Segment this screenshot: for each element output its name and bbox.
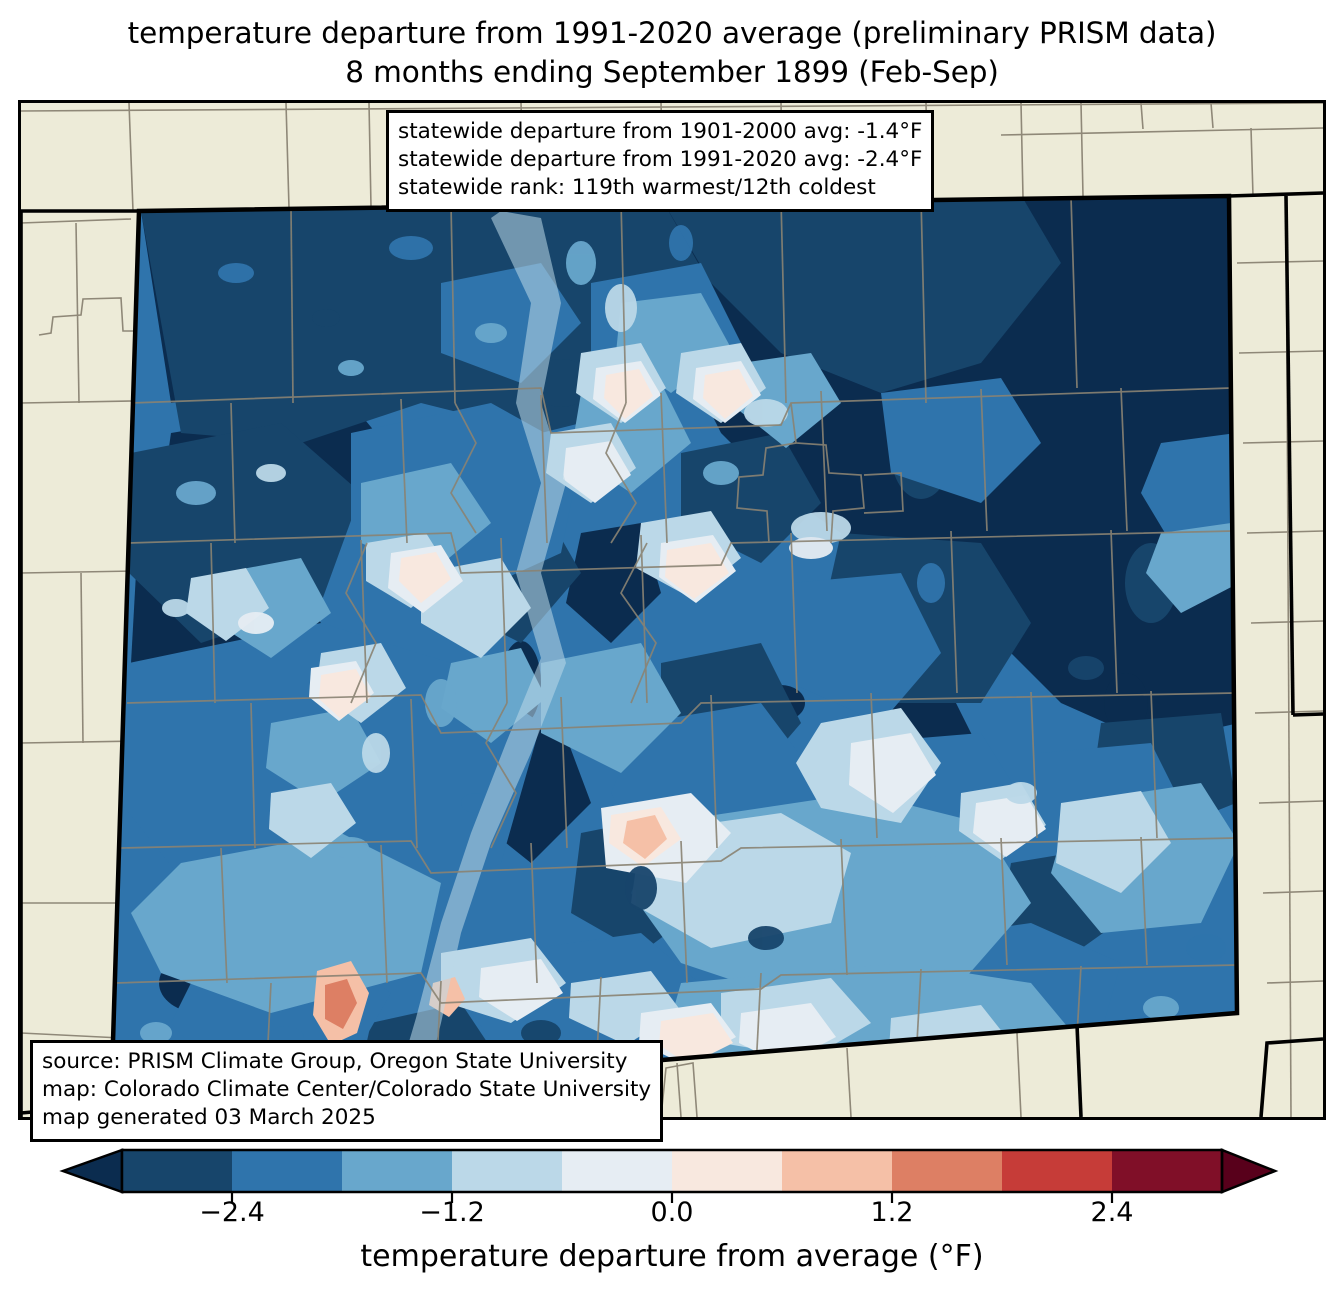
colorbar-axis-label: temperature departure from average (°F) <box>0 1239 1344 1274</box>
source-credit-box: source: PRISM Climate Group, Oregon Stat… <box>30 1040 663 1142</box>
colorado-temperature-departure-map <box>21 103 1323 1117</box>
map-frame <box>18 100 1326 1120</box>
stats-line-3: statewide rank: 119th warmest/12th colde… <box>398 174 922 202</box>
colorbar: −2.4−1.20.01.22.4 temperature departure … <box>0 1140 1344 1299</box>
colorbar-tick-label: −2.4 <box>199 1197 265 1228</box>
colorbar-tick-label: 1.2 <box>871 1197 914 1228</box>
source-line-1: source: PRISM Climate Group, Oregon Stat… <box>42 1048 651 1076</box>
stats-line-1: statewide departure from 1901-2000 avg: … <box>398 118 922 146</box>
colorbar-tick-label: 0.0 <box>651 1197 694 1228</box>
statewide-stats-box: statewide departure from 1901-2000 avg: … <box>386 110 934 212</box>
colorbar-tick-label: −1.2 <box>419 1197 485 1228</box>
page-title: temperature departure from 1991-2020 ave… <box>0 14 1344 92</box>
colorbar-tick-label: 2.4 <box>1091 1197 1134 1228</box>
stats-line-2: statewide departure from 1991-2020 avg: … <box>398 146 922 174</box>
source-line-3: map generated 03 March 2025 <box>42 1104 651 1132</box>
title-line-2: 8 months ending September 1899 (Feb-Sep) <box>0 53 1344 92</box>
title-line-1: temperature departure from 1991-2020 ave… <box>0 14 1344 53</box>
source-line-2: map: Colorado Climate Center/Colorado St… <box>42 1076 651 1104</box>
